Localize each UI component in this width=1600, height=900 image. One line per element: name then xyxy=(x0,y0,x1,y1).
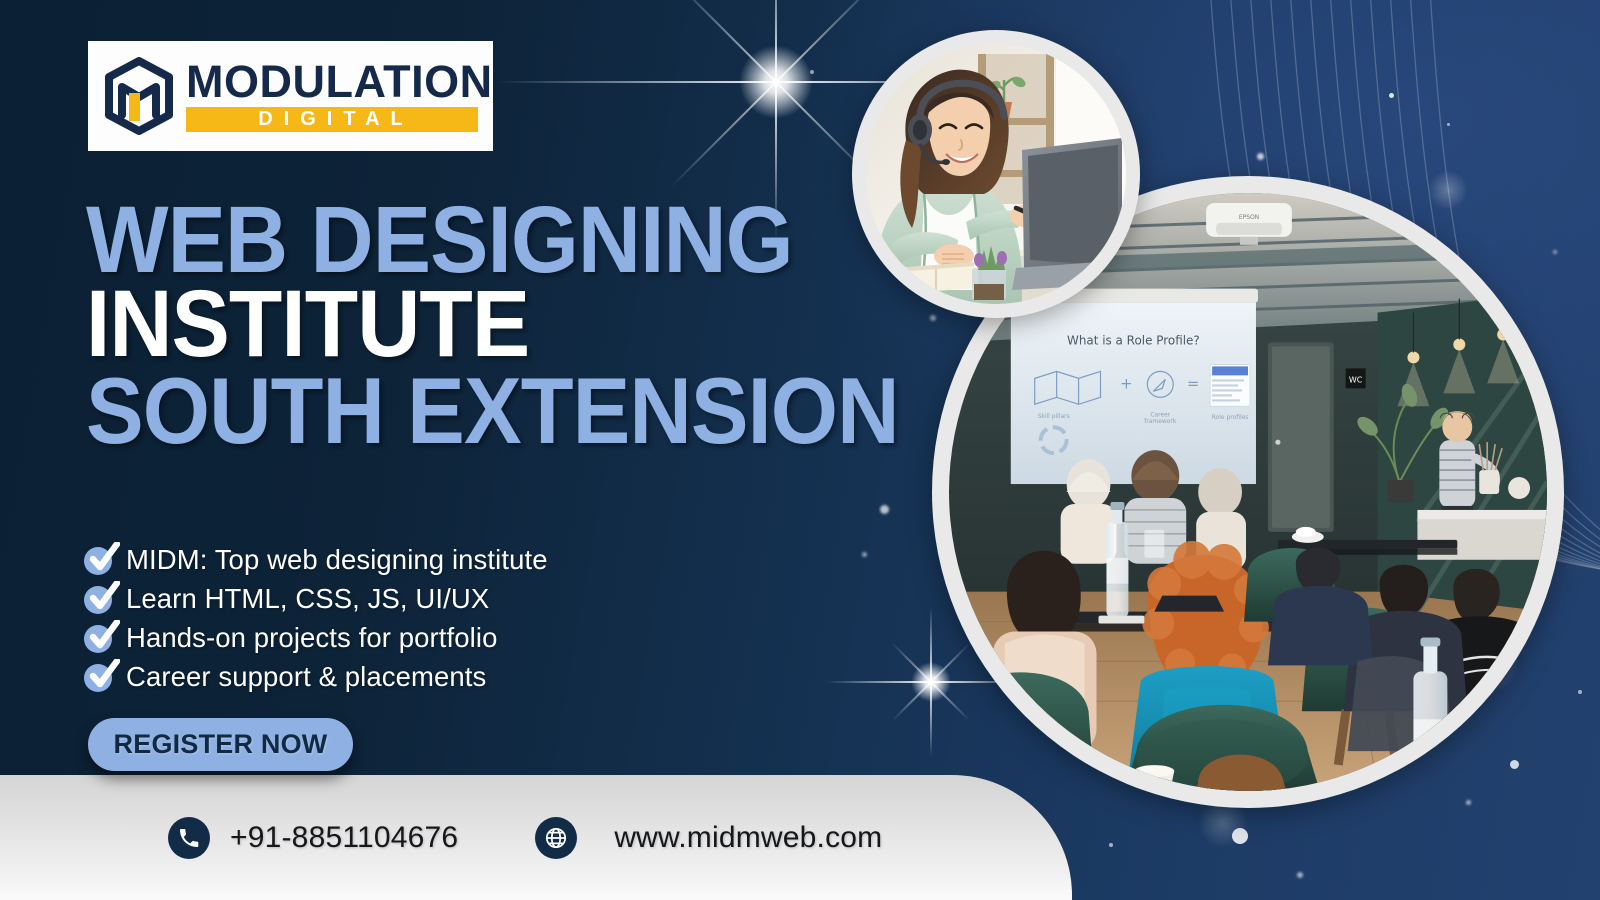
check-circle-icon xyxy=(84,545,114,575)
list-item: MIDM: Top web designing institute xyxy=(84,540,548,579)
svg-text:Role profiles: Role profiles xyxy=(1212,414,1249,421)
svg-text:Skill pillars: Skill pillars xyxy=(1038,413,1070,420)
globe-icon xyxy=(535,817,577,859)
check-circle-icon xyxy=(84,623,114,653)
list-item: Career support & placements xyxy=(84,657,548,696)
svg-text:What is a Role Profile?: What is a Role Profile? xyxy=(1067,333,1200,347)
contact-phone[interactable]: +91-8851104676 xyxy=(168,817,458,859)
svg-text:WC: WC xyxy=(1349,375,1363,384)
logo-subtitle: DIGITAL xyxy=(186,107,478,132)
phone-icon xyxy=(168,817,210,859)
svg-text:Career: Career xyxy=(1150,411,1170,418)
headline-line-3: SOUTH EXTENSION xyxy=(86,372,684,449)
list-item-label: Learn HTML, CSS, JS, UI/UX xyxy=(126,583,489,615)
brand-logo[interactable]: MODULATION DIGITAL xyxy=(88,41,493,151)
register-now-button[interactable]: REGISTER NOW xyxy=(88,718,353,771)
check-circle-icon xyxy=(84,584,114,614)
promo-banner: EPSON What is a Role Profile? + = xyxy=(0,0,1600,900)
student-photo-art xyxy=(866,44,1126,304)
svg-text:+: + xyxy=(1120,374,1133,392)
headline-line-1: WEB DESIGNING xyxy=(86,202,684,280)
headline-line-2: INSTITUTE xyxy=(86,286,684,364)
list-item-label: Career support & placements xyxy=(126,661,486,693)
svg-text:EPSON: EPSON xyxy=(1239,214,1259,221)
register-now-label: REGISTER NOW xyxy=(114,729,328,760)
hexagon-m-icon xyxy=(102,57,176,135)
page-title: WEB DESIGNING INSTITUTE SOUTH EXTENSION xyxy=(86,202,736,449)
logo-name: MODULATION xyxy=(186,60,493,103)
phone-number: +91-8851104676 xyxy=(230,821,458,855)
website-url: www.midmweb.com xyxy=(614,821,882,855)
contact-website[interactable]: www.midmweb.com xyxy=(535,817,882,859)
svg-text:framework: framework xyxy=(1144,418,1177,425)
list-item: Learn HTML, CSS, JS, UI/UX xyxy=(84,579,548,618)
student-with-headset-photo xyxy=(852,30,1140,318)
contact-footer-bar: +91-8851104676 www.midmweb.com xyxy=(0,775,1072,900)
svg-text:=: = xyxy=(1187,374,1200,392)
list-item-label: MIDM: Top web designing institute xyxy=(126,544,548,576)
list-item-label: Hands-on projects for portfolio xyxy=(126,622,497,654)
check-circle-icon xyxy=(84,662,114,692)
list-item: Hands-on projects for portfolio xyxy=(84,618,548,657)
feature-list: MIDM: Top web designing institute Learn … xyxy=(84,540,548,696)
